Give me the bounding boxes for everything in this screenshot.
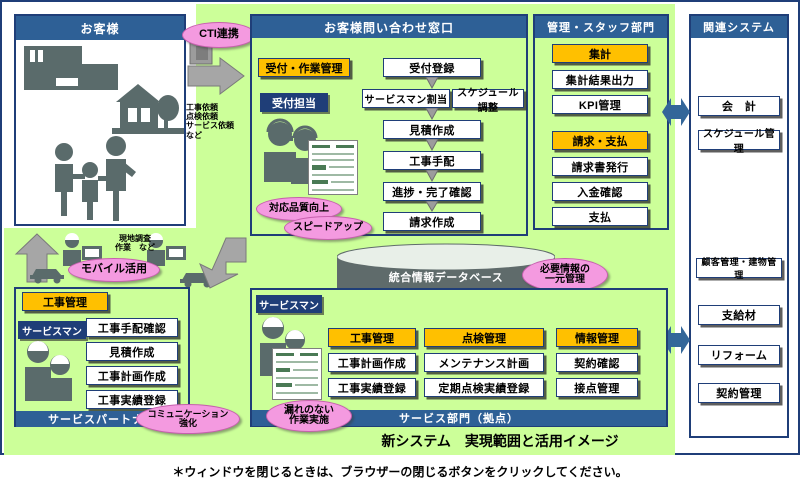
customer-panel: お客様 [14,14,186,226]
partner-item-plan: 工事計画作成 [86,366,178,385]
staff-item-kpi: KPI管理 [552,95,648,114]
related-item-supply: 支給材 [698,305,780,325]
building-icon [24,46,118,90]
mobile-field-label: 現地調査 作業 など [100,234,170,252]
flow-node-assign: サービスマン割当 [362,89,450,108]
flow-node-reception: 受付登録 [383,58,481,77]
contact-panel-title: お客様問い合わせ窓口 [252,16,526,38]
service-col3-header: 情報管理 [556,328,638,347]
related-item-customer-building: 顧客管理・建物管理 [696,258,782,278]
staff-group-header-aggregate: 集計 [552,44,648,63]
staff-item-payout: 支払 [552,207,648,226]
staff-group-header-billing: 請求・支払 [552,131,648,150]
diagram-caption: 新システム 実現範囲と活用イメージ [330,431,670,451]
cti-request-label: 工事依頼 点検依頼 サービス依頼 など [186,103,256,140]
related-systems-title: 関連システム [691,16,787,38]
mobile-field-line-1: 現地調査 [100,234,170,243]
related-item-reform: リフォーム [698,345,780,365]
flow-arrow-4 [423,170,441,182]
flow-arrow-2 [423,108,441,120]
partner-bubble: コミュニケーション 強化 [136,404,240,434]
customer-illustration [16,40,184,224]
service-col2-header: 点検管理 [424,328,544,347]
flow-arrow-1 [423,77,441,89]
partner-role-label: サービスマン [18,321,86,339]
contact-section-label: 受付・作業管理 [258,58,350,77]
related-item-accounting: 会 計 [698,96,780,116]
mobile-bubble: モバイル活用 [68,258,160,282]
staff-item-invoice: 請求書発行 [552,157,648,176]
cti-request-line-3: サービス依頼 [186,121,256,130]
mobile-field-line-2: 作業 など [100,243,170,252]
mobile-car-icon-1 [28,262,68,284]
cti-request-line-1: 工事依頼 [186,103,256,112]
flow-node-progress: 進捗・完了確認 [383,182,481,201]
staff-item-aggregate-output: 集計結果出力 [552,70,648,89]
cti-request-line-2: 点検依頼 [186,112,256,121]
service-screen-thumb [272,348,322,400]
contact-screen-thumb [308,140,358,195]
flow-arrow-3 [423,139,441,151]
database-bubble: 必要情報の 一元管理 [522,258,608,292]
staff-panel-title: 管理・スタッフ部門 [535,16,667,38]
customer-panel-title: お客様 [16,16,184,40]
cti-request-line-4: など [186,131,256,140]
service-bubble: 漏れのない 作業実施 [266,400,352,432]
service-bubble-line-2: 作業実施 [289,416,329,427]
flow-node-estimate: 見積作成 [383,120,481,139]
house-icon [112,84,184,134]
link-arrow-top [662,96,690,128]
staff-item-payment-confirm: 入金確認 [552,182,648,201]
cti-flow-arrow [186,40,248,102]
database-bubble-line-2: 一元管理 [545,275,585,286]
flow-node-billing: 請求作成 [383,212,481,231]
service-col1-header: 工事管理 [328,328,416,347]
partner-worker-illustration [20,340,80,402]
family-icon [55,136,136,221]
service-col3-item-2: 接点管理 [556,378,638,397]
partner-bubble-line-2: 強化 [179,419,197,428]
service-col2-item-1: メンテナンス計画 [424,353,544,372]
related-systems-panel: 関連システム [689,14,789,438]
cti-bubble: CTI連携 [182,22,256,48]
partner-section-label: 工事管理 [22,292,108,311]
related-item-contract: 契約管理 [698,383,780,403]
flow-node-schedule: スケジュール調整 [452,89,524,108]
flow-node-arrange: 工事手配 [383,151,481,170]
related-item-schedule: スケジュール管理 [698,130,780,150]
service-col1-item-2: 工事実績登録 [328,378,416,397]
service-col3-item-1: 契約確認 [556,353,638,372]
service-col2-item-2: 定期点検実績登録 [424,378,544,397]
partner-item-estimate: 見積作成 [86,342,178,361]
contact-bubble-speed: スピードアップ [284,216,372,240]
flow-arrow-5 [423,201,441,212]
mobile-down-arrow [186,232,248,290]
partner-item-arrange-confirm: 工事手配確認 [86,318,178,337]
diagram-canvas: お客様 [0,0,800,489]
service-role-label: サービスマン [256,295,322,313]
contact-role-label: 受付担当 [260,93,328,112]
footer-note: ＊ウィンドウを閉じるときは、ブラウザーの閉じるボタンをクリックしてください。 [0,463,800,480]
service-col1-item-1: 工事計画作成 [328,353,416,372]
